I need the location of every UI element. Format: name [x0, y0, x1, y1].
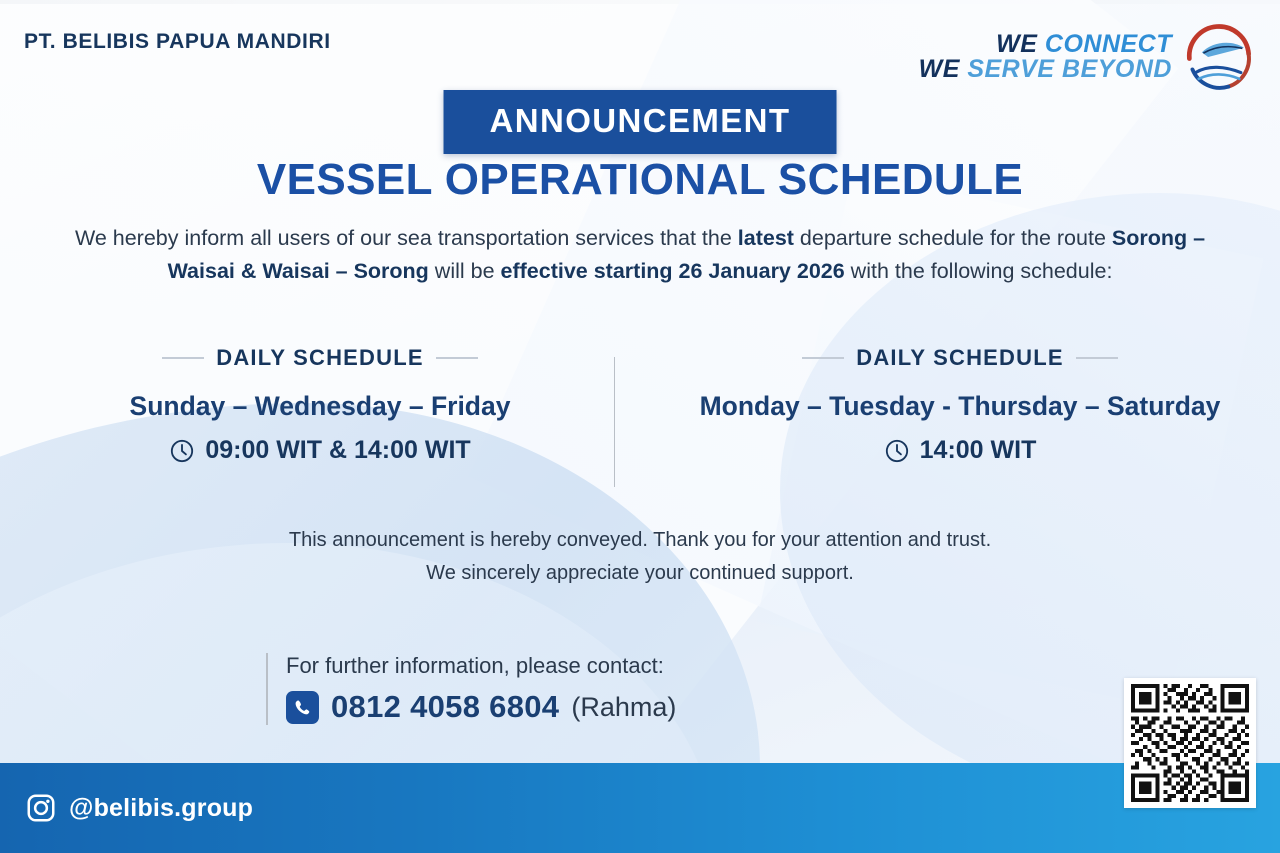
- instagram-icon: [26, 793, 56, 823]
- announcement-poster: PT. BELIBIS PAPUA MANDIRI WE CONNECT WE …: [0, 0, 1280, 853]
- closing-statement: This announcement is hereby conveyed. Th…: [0, 524, 1280, 589]
- social-handle-block[interactable]: @belibis.group: [26, 793, 253, 823]
- contact-block: For further information, please contact:…: [266, 653, 676, 725]
- schedule-days-right: Monday – Tuesday - Thursday – Saturday: [654, 391, 1266, 422]
- intro-bold-latest: latest: [738, 226, 794, 250]
- schedule-column-right: DAILY SCHEDULE Monday – Tuesday - Thursd…: [640, 345, 1280, 465]
- clock-icon: [884, 438, 910, 464]
- logo-emblem-icon: [1180, 18, 1258, 96]
- closing-line-1: This announcement is hereby conveyed. Th…: [0, 524, 1280, 557]
- schedule-heading-text: DAILY SCHEDULE: [856, 345, 1064, 371]
- intro-bold-effective-date: effective starting 26 January 2026: [501, 259, 845, 283]
- logo-tagline-line1: WE CONNECT: [919, 32, 1172, 58]
- qr-code-image: [1130, 684, 1250, 802]
- heading-rule-left: [162, 357, 204, 359]
- schedule-heading-right: DAILY SCHEDULE: [654, 345, 1266, 371]
- contact-phone-row[interactable]: 0812 4058 6804 (Rahma): [286, 689, 676, 725]
- phone-glyph-icon: [293, 698, 312, 717]
- schedule-time-left: 09:00 WIT & 14:00 WIT: [205, 436, 470, 465]
- heading-rule-left: [802, 357, 844, 359]
- schedule-column-divider: [614, 357, 615, 487]
- heading-rule-right: [1076, 357, 1118, 359]
- logo-tagline: WE CONNECT WE SERVE BEYOND: [919, 32, 1172, 83]
- brand-logo: WE CONNECT WE SERVE BEYOND: [919, 18, 1258, 96]
- intro-seg-3: will be: [429, 259, 501, 283]
- company-name: PT. BELIBIS PAPUA MANDIRI: [24, 30, 331, 54]
- closing-line-2: We sincerely appreciate your continued s…: [0, 557, 1280, 590]
- logo-we-1: WE: [996, 30, 1037, 58]
- logo-tagline-line2: WE SERVE BEYOND: [919, 57, 1172, 83]
- schedule-column-left: DAILY SCHEDULE Sunday – Wednesday – Frid…: [0, 345, 640, 465]
- schedule-time-row-left: 09:00 WIT & 14:00 WIT: [14, 436, 626, 465]
- schedule-heading-text: DAILY SCHEDULE: [216, 345, 424, 371]
- contact-label: For further information, please contact:: [286, 653, 676, 679]
- intro-paragraph: We hereby inform all users of our sea tr…: [60, 222, 1220, 289]
- announcement-ribbon: ANNOUNCEMENT: [444, 90, 837, 154]
- logo-connect: CONNECT: [1045, 30, 1172, 58]
- schedule-time-row-right: 14:00 WIT: [654, 436, 1266, 465]
- qr-code[interactable]: [1124, 678, 1256, 808]
- schedule-section: DAILY SCHEDULE Sunday – Wednesday – Frid…: [0, 345, 1280, 465]
- intro-seg-4: with the following schedule:: [845, 259, 1113, 283]
- schedule-days-left: Sunday – Wednesday – Friday: [14, 391, 626, 422]
- contact-person-name: (Rahma): [571, 692, 676, 723]
- page-title: VESSEL OPERATIONAL SCHEDULE: [0, 155, 1280, 205]
- social-handle-text: @belibis.group: [69, 794, 253, 823]
- footer-bar: @belibis.group: [0, 763, 1280, 853]
- logo-we-2: WE: [919, 55, 960, 83]
- schedule-time-right: 14:00 WIT: [920, 436, 1037, 465]
- clock-icon: [169, 438, 195, 464]
- phone-icon: [286, 691, 319, 724]
- contact-phone-number: 0812 4058 6804: [331, 689, 559, 725]
- logo-serve-beyond: SERVE BEYOND: [967, 55, 1172, 83]
- intro-seg-1: We hereby inform all users of our sea tr…: [75, 226, 738, 250]
- schedule-heading-left: DAILY SCHEDULE: [14, 345, 626, 371]
- intro-seg-2: departure schedule for the route: [794, 226, 1112, 250]
- heading-rule-right: [436, 357, 478, 359]
